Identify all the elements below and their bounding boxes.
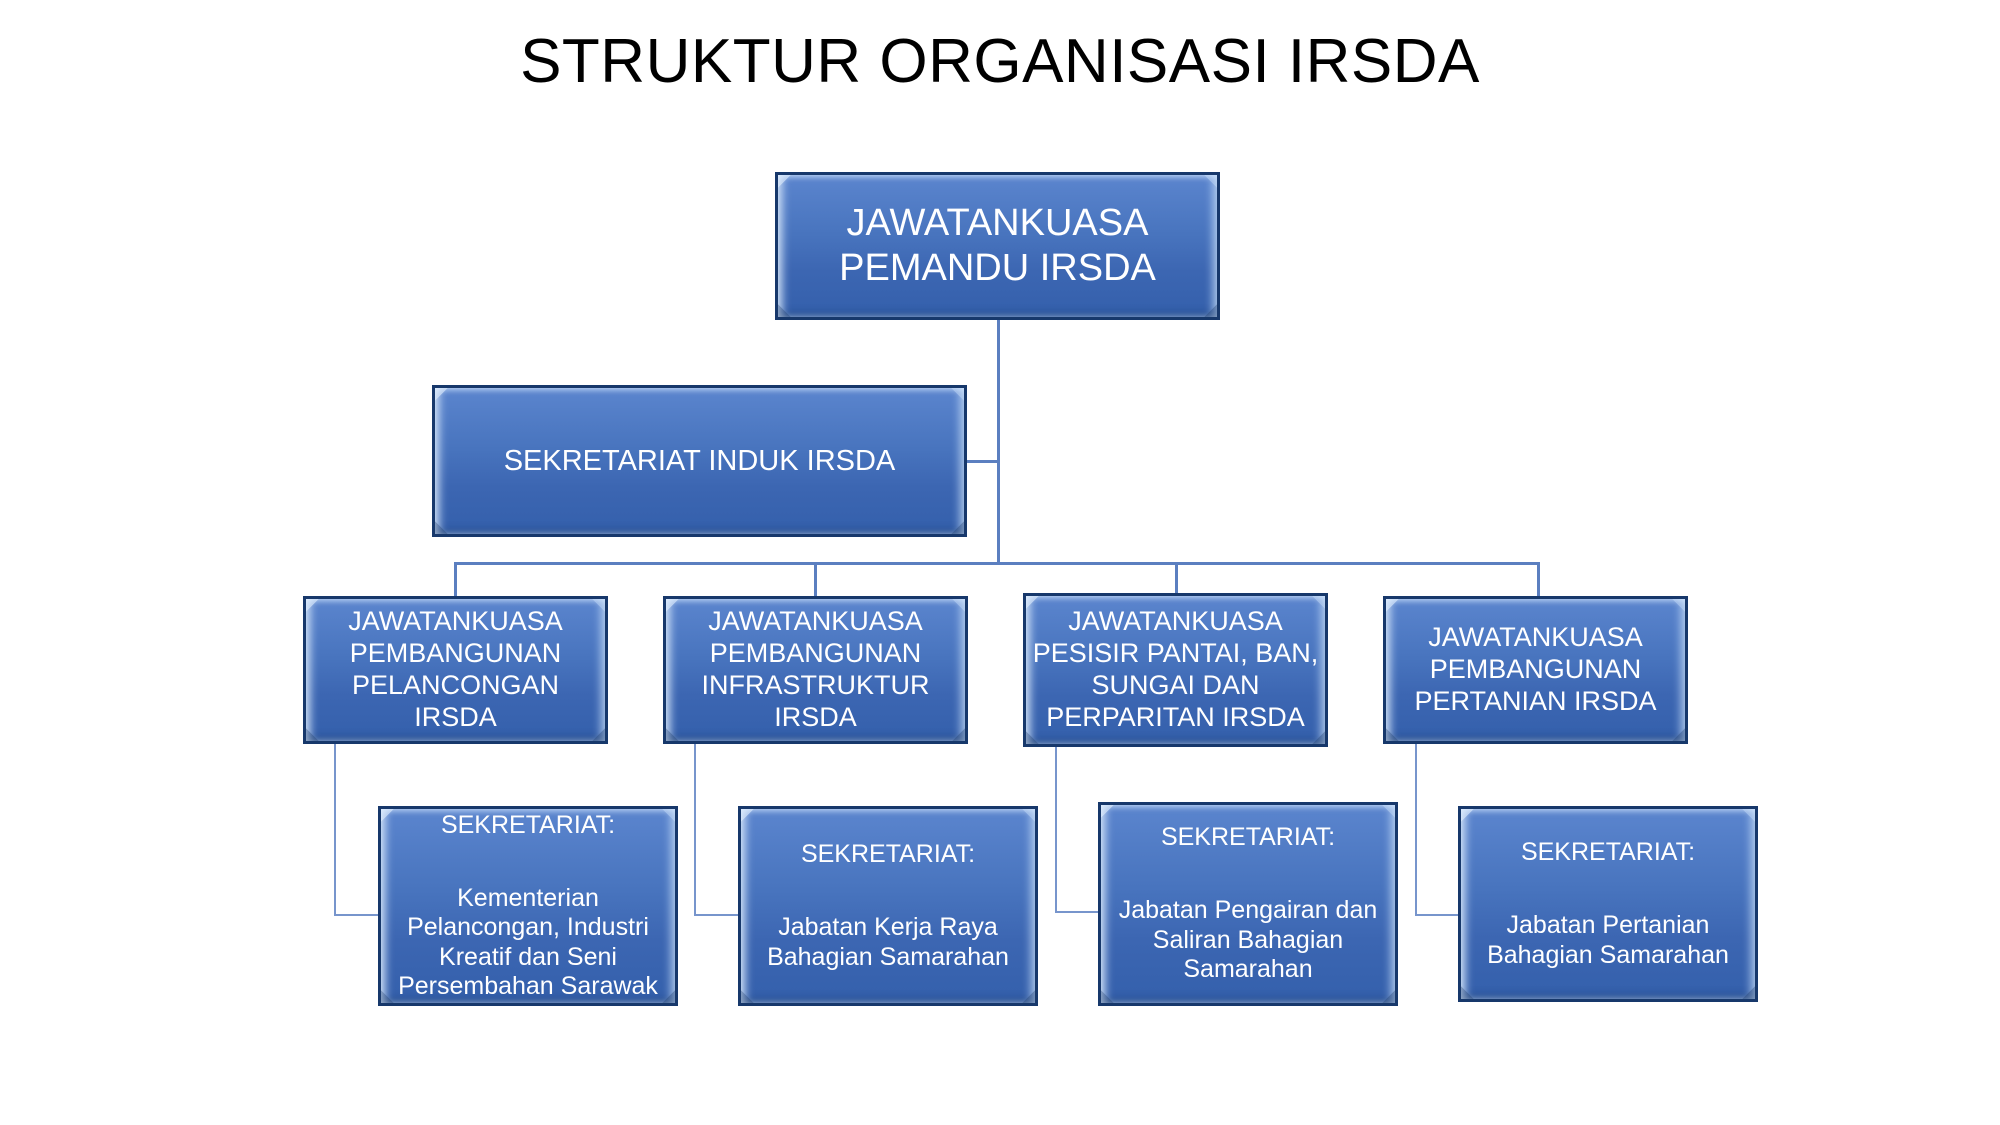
org-chart-canvas: STRUKTUR ORGANISASI IRSDA JAWATANKUASA P… [0, 0, 2000, 1125]
connector-drop-committee-2 [814, 562, 817, 597]
node-label: JAWATANKUASA PESISIR PANTAI, BAN, SUNGAI… [1027, 606, 1325, 733]
secretariat-heading: SEKRETARIAT: [1487, 838, 1729, 868]
connector-distribution-bar [454, 562, 1539, 565]
connector-sekretariat-induk-stub [965, 460, 999, 463]
node-label: SEKRETARIAT: Jabatan Pertanian Bahagian … [1481, 809, 1735, 1000]
connector-drop-committee-4 [1537, 562, 1540, 597]
connector-drop-committee-1 [454, 562, 457, 597]
connector-drop-committee-3 [1175, 562, 1178, 594]
secretariat-heading: SEKRETARIAT: [398, 811, 658, 841]
node-label: SEKRETARIAT: Jabatan Pengairan dan Salir… [1113, 802, 1384, 1006]
connector-elbow-v-secretariat-3 [1055, 747, 1057, 913]
node-secretariat-kerja-raya[interactable]: SEKRETARIAT: Jabatan Kerja Raya Bahagian… [738, 806, 1038, 1006]
node-label: SEKRETARIAT: Kementerian Pelancongan, In… [392, 806, 664, 1006]
node-sekretariat-induk-irsda[interactable]: SEKRETARIAT INDUK IRSDA [432, 385, 967, 537]
node-committee-pesisir-pantai[interactable]: JAWATANKUASA PESISIR PANTAI, BAN, SUNGAI… [1023, 593, 1328, 747]
connector-elbow-v-secretariat-4 [1415, 744, 1417, 916]
node-jawatankuasa-pemandu-irsda[interactable]: JAWATANKUASA PEMANDU IRSDA [775, 172, 1220, 320]
connector-elbow-h-secretariat-4 [1415, 914, 1461, 916]
node-secretariat-pertanian[interactable]: SEKRETARIAT: Jabatan Pertanian Bahagian … [1458, 806, 1758, 1002]
secretariat-body: Jabatan Kerja Raya Bahagian Samarahan [767, 913, 1009, 972]
node-label: JAWATANKUASA PEMANDU IRSDA [833, 201, 1162, 291]
page-title: STRUKTUR ORGANISASI IRSDA [0, 28, 2000, 96]
secretariat-body: Jabatan Pertanian Bahagian Samarahan [1487, 911, 1729, 970]
connector-elbow-h-secretariat-3 [1055, 911, 1101, 913]
node-committee-pertanian[interactable]: JAWATANKUASA PEMBANGUNAN PERTANIAN IRSDA [1383, 596, 1688, 744]
node-committee-pelancongan[interactable]: JAWATANKUASA PEMBANGUNAN PELANCONGAN IRS… [303, 596, 608, 744]
node-label: JAWATANKUASA PEMBANGUNAN INFRASTRUKTUR I… [666, 606, 965, 733]
connector-top-trunk [997, 320, 1000, 563]
secretariat-body: Kementerian Pelancongan, Industri Kreati… [398, 884, 658, 1002]
connector-elbow-h-secretariat-2 [694, 914, 740, 916]
secretariat-body: Jabatan Pengairan dan Saliran Bahagian S… [1119, 896, 1378, 985]
node-label: JAWATANKUASA PEMBANGUNAN PERTANIAN IRSDA [1408, 622, 1662, 718]
connector-elbow-v-secretariat-2 [694, 744, 696, 916]
node-secretariat-pengairan-saliran[interactable]: SEKRETARIAT: Jabatan Pengairan dan Salir… [1098, 802, 1398, 1006]
node-label: JAWATANKUASA PEMBANGUNAN PELANCONGAN IRS… [306, 606, 605, 733]
secretariat-heading: SEKRETARIAT: [767, 840, 1009, 870]
node-label: SEKRETARIAT: Jabatan Kerja Raya Bahagian… [761, 811, 1015, 1002]
secretariat-heading: SEKRETARIAT: [1119, 823, 1378, 853]
node-committee-infrastruktur[interactable]: JAWATANKUASA PEMBANGUNAN INFRASTRUKTUR I… [663, 596, 968, 744]
node-label: SEKRETARIAT INDUK IRSDA [498, 444, 902, 478]
node-secretariat-pelancongan[interactable]: SEKRETARIAT: Kementerian Pelancongan, In… [378, 806, 678, 1006]
connector-elbow-v-secretariat-1 [334, 744, 336, 916]
connector-elbow-h-secretariat-1 [334, 914, 380, 916]
